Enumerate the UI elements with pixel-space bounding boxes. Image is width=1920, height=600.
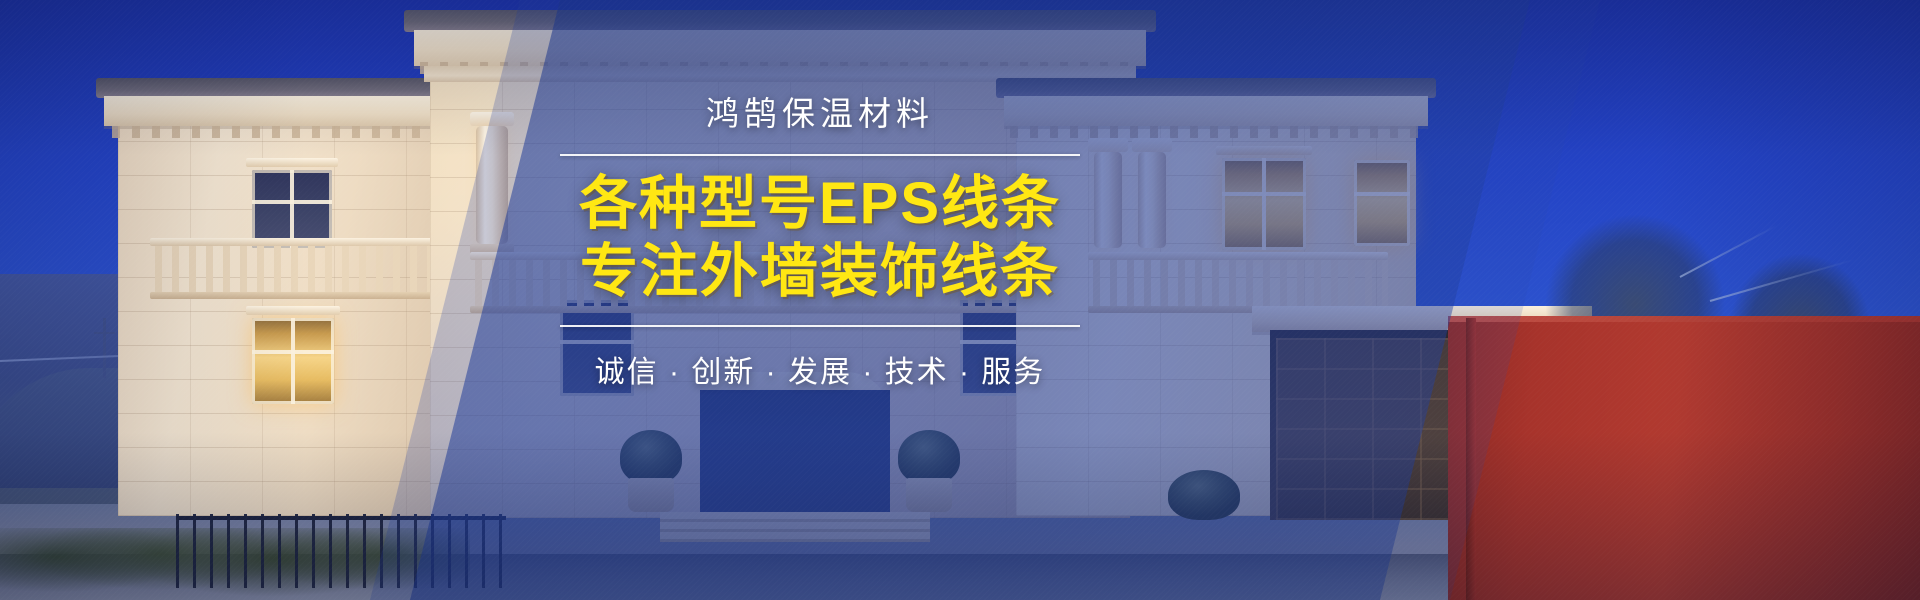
window-mullion bbox=[1262, 158, 1266, 250]
divider-bottom bbox=[560, 325, 1080, 327]
headline: 各种型号EPS线条 专注外墙装饰线条 bbox=[560, 170, 1080, 305]
window-mullion bbox=[1354, 192, 1410, 196]
villa-center-cornice bbox=[414, 30, 1146, 66]
shrub bbox=[898, 430, 960, 484]
headline-line-2: 专注外墙装饰线条 bbox=[560, 238, 1080, 305]
window-hood bbox=[1216, 146, 1312, 155]
tagline: 诚信 · 创新 · 发展 · 技术 · 服务 bbox=[560, 347, 1080, 391]
column-capital bbox=[470, 112, 514, 126]
window-hood bbox=[246, 306, 340, 315]
entry-porch bbox=[700, 390, 890, 525]
planter-pot bbox=[906, 478, 952, 512]
red-wall-edge bbox=[1466, 318, 1476, 600]
window-hood bbox=[246, 158, 338, 167]
villa-left-wing bbox=[118, 86, 448, 516]
balustrade bbox=[1088, 260, 1388, 306]
window-mullion bbox=[1222, 192, 1306, 196]
entry-steps bbox=[660, 512, 930, 542]
balustrade-rail bbox=[150, 238, 450, 246]
headline-line-1: 各种型号EPS线条 bbox=[560, 170, 1080, 237]
villa-right-roof bbox=[996, 78, 1436, 98]
balustrade-rail bbox=[1088, 252, 1388, 260]
villa-window-lit bbox=[1354, 160, 1410, 246]
planter-pot bbox=[628, 478, 674, 512]
window-mullion bbox=[252, 350, 334, 354]
villa-column bbox=[1138, 152, 1166, 248]
villa-window bbox=[252, 170, 332, 248]
dentil-band bbox=[112, 126, 456, 138]
red-wall-panel bbox=[1448, 318, 1920, 600]
villa-left-cornice bbox=[104, 96, 462, 126]
banner-copy: 鸿鹄保温材料 各种型号EPS线条 专注外墙装饰线条 诚信 · 创新 · 发展 ·… bbox=[560, 96, 1080, 391]
balustrade bbox=[150, 246, 450, 292]
villa-window-lit bbox=[1222, 158, 1306, 250]
villa-center-roof bbox=[404, 10, 1156, 32]
window-mullion bbox=[290, 170, 294, 248]
window-mullion bbox=[252, 200, 332, 204]
iron-fence bbox=[176, 514, 506, 588]
balustrade-base bbox=[150, 292, 450, 299]
promo-banner: 鸿鹄保温材料 各种型号EPS线条 专注外墙装饰线条 诚信 · 创新 · 发展 ·… bbox=[0, 0, 1920, 600]
column-capital bbox=[1132, 138, 1172, 152]
window-mullion bbox=[291, 318, 295, 404]
brand-kicker: 鸿鹄保温材料 bbox=[560, 96, 1080, 132]
divider-top bbox=[560, 154, 1080, 156]
column-capital bbox=[1088, 138, 1128, 152]
villa-column bbox=[1094, 152, 1122, 248]
villa-left-roof bbox=[96, 78, 470, 98]
shrub bbox=[620, 430, 682, 484]
shrub bbox=[1168, 470, 1240, 520]
red-wall-cap bbox=[1448, 316, 1920, 322]
villa-column bbox=[476, 126, 508, 244]
villa-window-lit bbox=[252, 318, 334, 404]
